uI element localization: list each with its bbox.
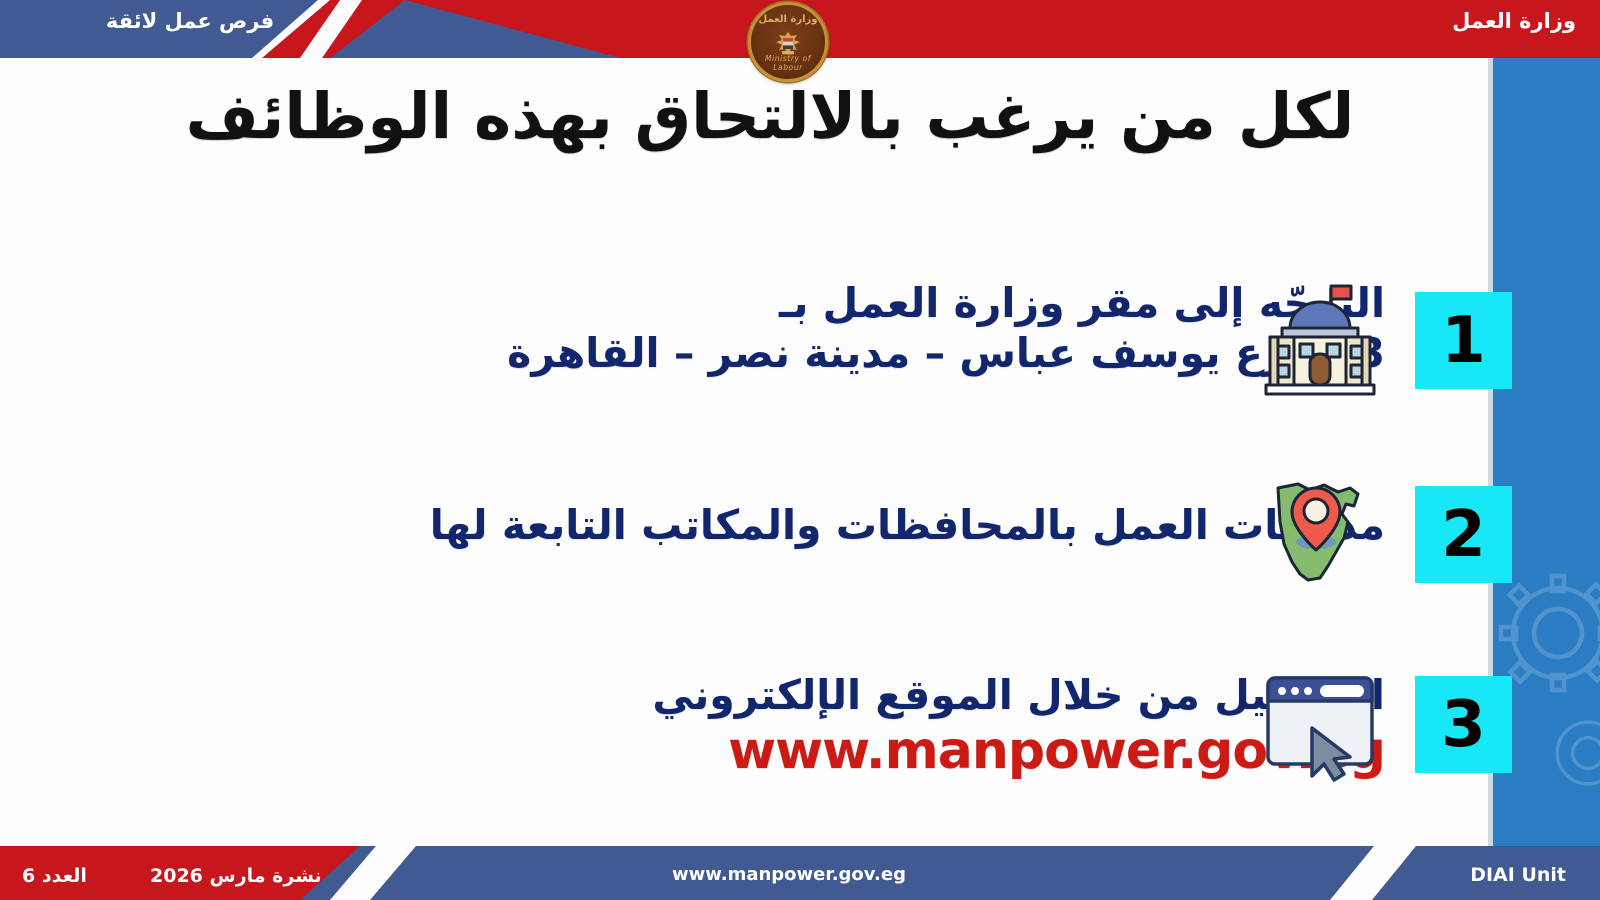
browser-window-cursor-icon: [1256, 664, 1384, 782]
footer-issue-number: العدد 6: [22, 865, 87, 887]
step-badge-2-number: 2: [1441, 503, 1486, 567]
step-row-2: مديريات العمل بالمحافظات والمكاتب التابع…: [365, 500, 1385, 550]
seal-arabic-text: وزارة العمل: [751, 14, 825, 25]
step-badge-1: 1: [1415, 292, 1512, 389]
ministry-seal-icon: وزارة العمل Ministry of Labour: [748, 2, 828, 82]
step-1-line-1: التوجّه إلى مقر وزارة العمل بـ: [365, 278, 1385, 328]
footer-website[interactable]: www.manpower.gov.eg: [672, 864, 906, 885]
step-2-text: مديريات العمل بالمحافظات والمكاتب التابع…: [365, 500, 1385, 550]
step-row-3: التسجيل من خلال الموقع الإلكتروني www.ma…: [365, 670, 1385, 783]
header-slogan: فرص عمل لائقة: [60, 9, 320, 33]
header-ministry-name: وزارة العمل: [1452, 9, 1576, 33]
step-badge-3: 3: [1415, 676, 1512, 773]
step-1-line-2: 3 شارع يوسف عباس – مدينة نصر – القاهرة: [365, 328, 1385, 378]
step-badge-1-number: 1: [1441, 309, 1486, 373]
footer-banner: العدد 6 نشرة مارس 2026 www.manpower.gov.…: [0, 846, 1600, 900]
step-row-1: التوجّه إلى مقر وزارة العمل بـ 3 شارع يو…: [365, 278, 1385, 378]
seal-english-text: Ministry of Labour: [751, 54, 825, 72]
step-2-line-1: مديريات العمل بالمحافظات والمكاتب التابع…: [365, 500, 1385, 550]
step-3-line-1: التسجيل من خلال الموقع الإلكتروني: [365, 670, 1385, 720]
step-badge-2: 2: [1415, 486, 1512, 583]
step-3-website-url[interactable]: www.manpower.gov.eg: [365, 720, 1385, 783]
infographic-canvas: فرص عمل لائقة وزارة العمل وزارة العمل Mi…: [0, 0, 1600, 900]
page-title: لكل من يرغب بالالتحاق بهذه الوظائف: [120, 82, 1420, 153]
footer-unit-label: DIAI Unit: [1470, 864, 1566, 886]
step-badge-3-number: 3: [1441, 693, 1486, 757]
egypt-map-pin-icon: [1258, 470, 1386, 588]
gear-watermark-small-icon: [1533, 698, 1600, 808]
footer-bulletin-date: نشرة مارس 2026: [150, 865, 322, 887]
step-1-text: التوجّه إلى مقر وزارة العمل بـ 3 شارع يو…: [365, 278, 1385, 378]
step-3-text: التسجيل من خلال الموقع الإلكتروني www.ma…: [365, 670, 1385, 783]
government-building-icon: [1256, 282, 1384, 400]
